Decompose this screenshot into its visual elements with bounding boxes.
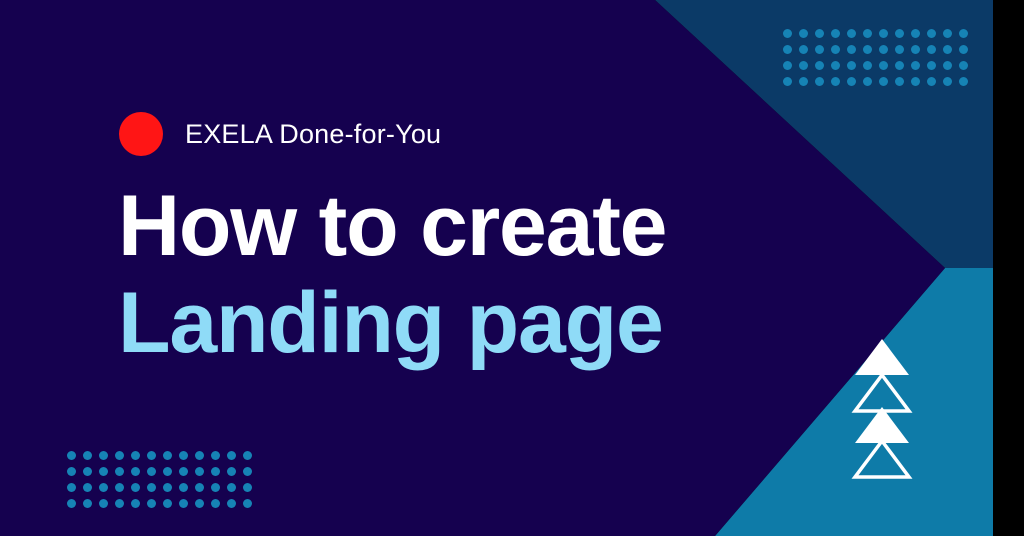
dot	[879, 29, 888, 38]
brand-badge-label: EXELA Done-for-You	[185, 121, 441, 148]
dot	[243, 483, 252, 492]
dot	[115, 499, 124, 508]
dot	[67, 451, 76, 460]
headline-line-secondary: Landing page	[118, 275, 878, 372]
dot	[131, 467, 140, 476]
dot	[799, 29, 808, 38]
triangle-outline-2	[855, 441, 909, 477]
dot	[879, 61, 888, 70]
dot	[195, 499, 204, 508]
dot	[943, 45, 952, 54]
red-circle-icon	[119, 112, 163, 156]
dot	[783, 29, 792, 38]
dot	[99, 499, 108, 508]
dot	[131, 499, 140, 508]
dot-grid-top-right	[783, 29, 975, 93]
dot	[847, 45, 856, 54]
dot	[863, 61, 872, 70]
dot	[815, 45, 824, 54]
dot	[227, 483, 236, 492]
dot	[131, 483, 140, 492]
dot	[163, 483, 172, 492]
dot	[895, 45, 904, 54]
dot	[99, 467, 108, 476]
dot	[147, 451, 156, 460]
dot	[99, 451, 108, 460]
dot	[227, 467, 236, 476]
dot	[227, 451, 236, 460]
dot	[959, 45, 968, 54]
dot	[879, 77, 888, 86]
dot	[783, 77, 792, 86]
dot	[911, 77, 920, 86]
dot	[195, 467, 204, 476]
dot	[195, 451, 204, 460]
dot	[911, 45, 920, 54]
dot	[179, 451, 188, 460]
dot	[863, 45, 872, 54]
dot	[799, 77, 808, 86]
dot	[179, 499, 188, 508]
headline-line-primary: How to create	[118, 178, 878, 275]
dot	[831, 45, 840, 54]
dot	[879, 45, 888, 54]
dot	[179, 483, 188, 492]
dot	[847, 29, 856, 38]
dot	[895, 77, 904, 86]
dot	[67, 499, 76, 508]
dot	[911, 61, 920, 70]
dot	[895, 29, 904, 38]
dot	[927, 29, 936, 38]
dot	[959, 29, 968, 38]
dot	[83, 499, 92, 508]
dot	[815, 29, 824, 38]
dot	[799, 61, 808, 70]
dot	[211, 467, 220, 476]
dot	[243, 499, 252, 508]
dot	[83, 467, 92, 476]
dot	[147, 483, 156, 492]
dot	[927, 61, 936, 70]
dot	[115, 451, 124, 460]
dot	[67, 483, 76, 492]
dot	[147, 467, 156, 476]
black-right-strip	[993, 0, 1024, 536]
dot	[895, 61, 904, 70]
dot	[959, 61, 968, 70]
dot	[943, 77, 952, 86]
dot	[959, 77, 968, 86]
dot	[863, 29, 872, 38]
dot	[831, 61, 840, 70]
dot	[911, 29, 920, 38]
dot	[863, 77, 872, 86]
brand-badge: EXELA Done-for-You	[119, 112, 441, 156]
dot	[131, 451, 140, 460]
dot	[179, 467, 188, 476]
dot	[115, 467, 124, 476]
slide-canvas: EXELA Done-for-You How to create Landing…	[0, 0, 1024, 536]
dot	[847, 61, 856, 70]
dot	[943, 61, 952, 70]
dot	[815, 61, 824, 70]
dot	[943, 29, 952, 38]
dot	[83, 483, 92, 492]
dot-grid-bottom-left	[67, 451, 259, 515]
dot	[831, 77, 840, 86]
dot	[147, 499, 156, 508]
dot	[927, 77, 936, 86]
dot	[211, 483, 220, 492]
dot	[815, 77, 824, 86]
dot	[243, 467, 252, 476]
dot	[211, 499, 220, 508]
dot	[67, 467, 76, 476]
page-title: How to create Landing page	[118, 178, 878, 372]
dot	[163, 451, 172, 460]
triangle-outline-1	[855, 375, 909, 411]
dot	[783, 45, 792, 54]
dot	[163, 499, 172, 508]
dot	[195, 483, 204, 492]
dot	[847, 77, 856, 86]
dot	[799, 45, 808, 54]
dot	[243, 451, 252, 460]
dot	[211, 451, 220, 460]
dot	[115, 483, 124, 492]
dot	[227, 499, 236, 508]
dot	[99, 483, 108, 492]
dot	[163, 467, 172, 476]
dot	[83, 451, 92, 460]
dot	[831, 29, 840, 38]
dot	[783, 61, 792, 70]
dot	[927, 45, 936, 54]
